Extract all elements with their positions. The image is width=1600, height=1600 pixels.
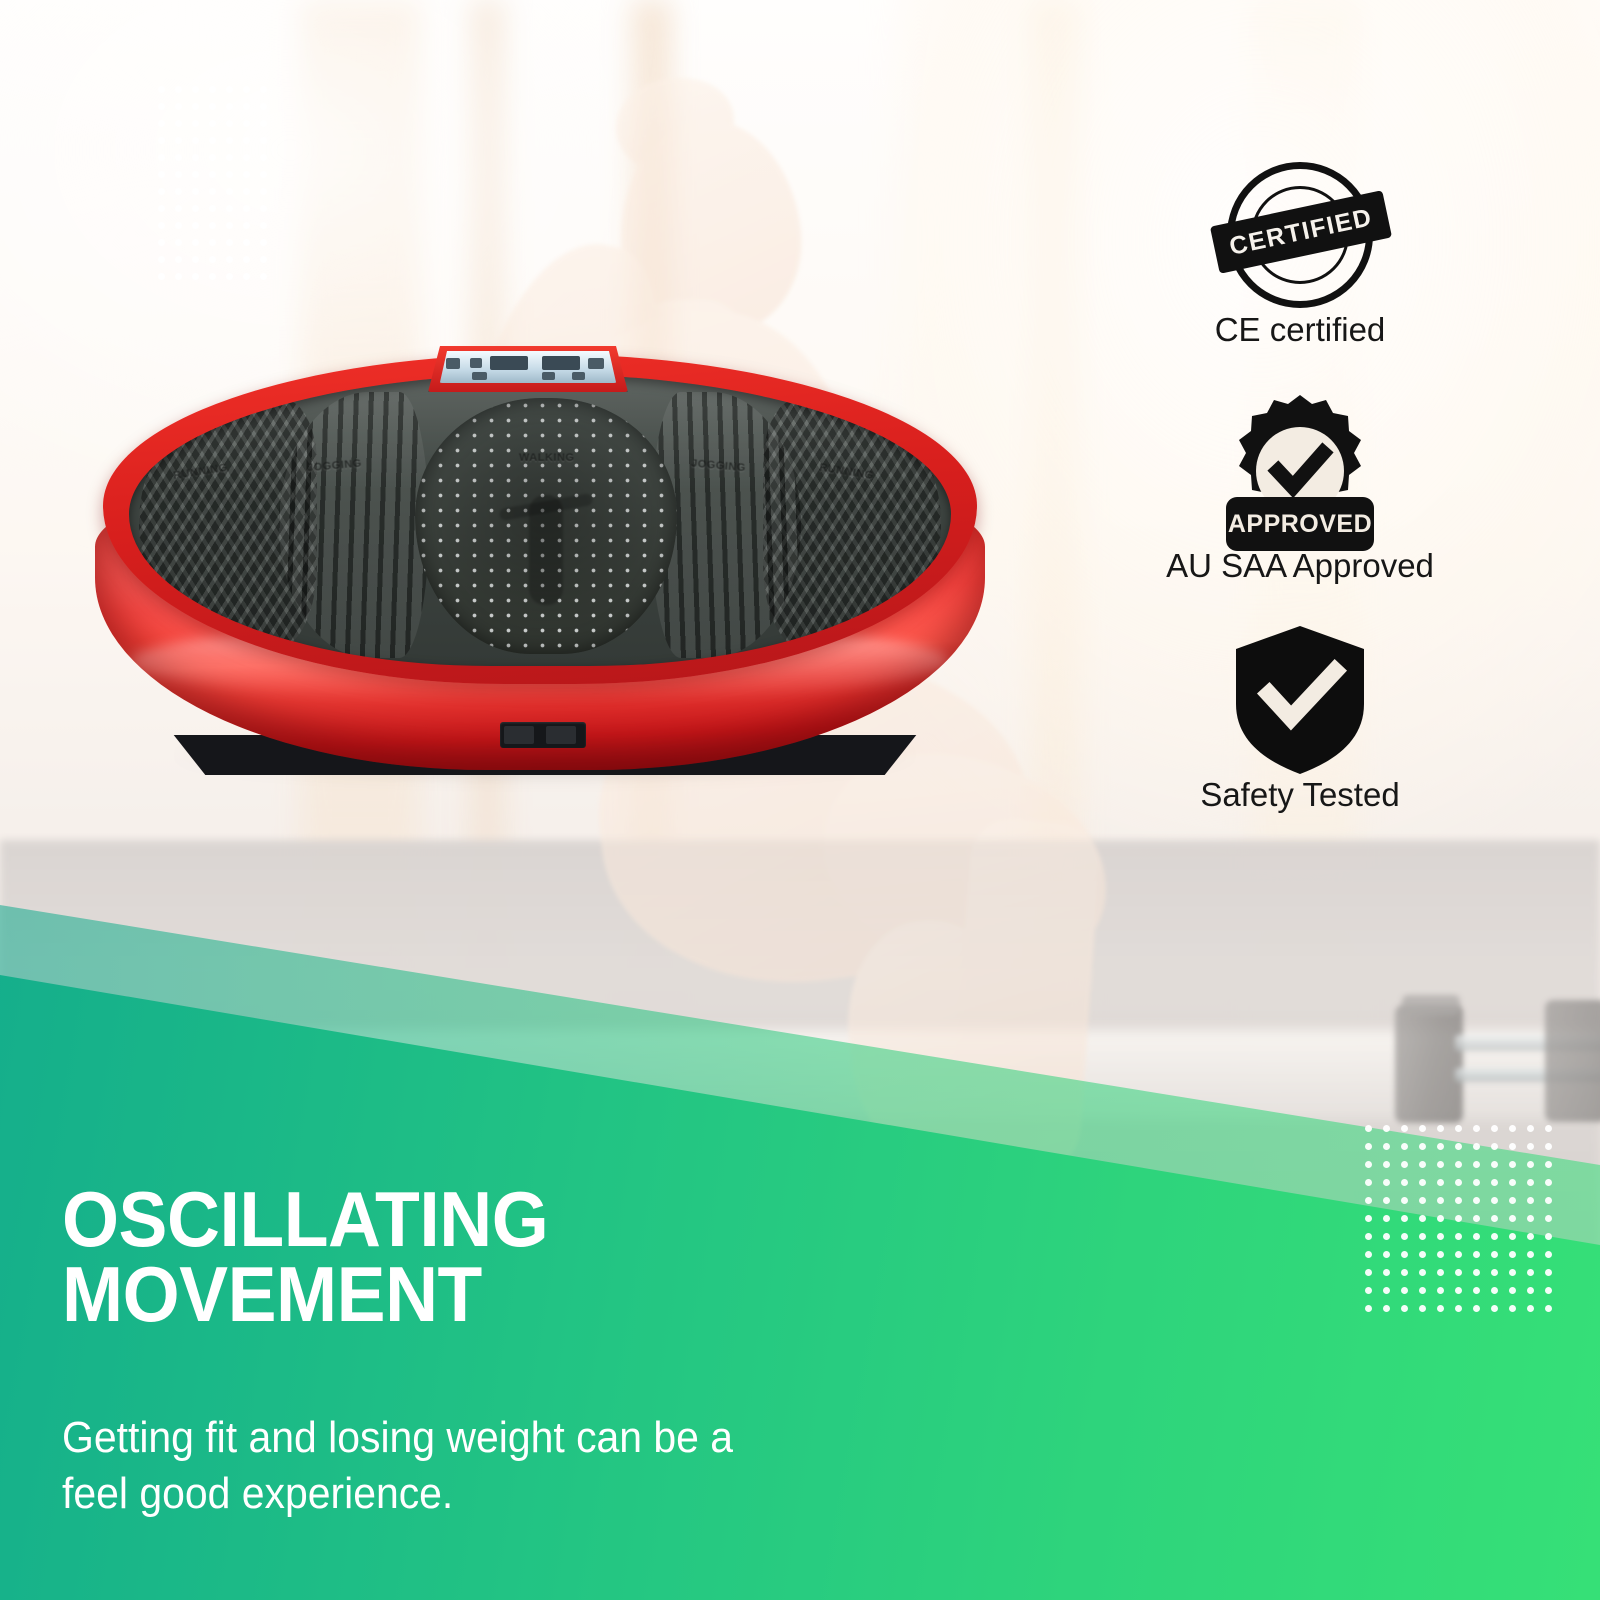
grid-dot — [1473, 1215, 1480, 1222]
badge-safety-tested: Safety Tested — [1090, 615, 1510, 813]
grid-dot — [1365, 1287, 1372, 1294]
grid-dot — [209, 222, 216, 229]
grid-dot — [1419, 1197, 1426, 1204]
grid-dot — [1545, 1197, 1552, 1204]
grid-dot — [1437, 1161, 1444, 1168]
grid-dot — [1491, 1215, 1498, 1222]
grid-dot — [243, 154, 250, 161]
grid-dot — [1383, 1197, 1390, 1204]
grid-dot — [1401, 1233, 1408, 1240]
grid-dot — [260, 154, 267, 161]
badge-label: Safety Tested — [1090, 777, 1510, 813]
grid-dot — [1365, 1269, 1372, 1276]
grid-dot — [1455, 1215, 1462, 1222]
grid-dot — [1455, 1143, 1462, 1150]
grid-dot — [1509, 1287, 1516, 1294]
grid-dot — [175, 171, 182, 178]
grid-dot — [1383, 1269, 1390, 1276]
grid-dot — [175, 273, 182, 280]
grid-dot — [1545, 1233, 1552, 1240]
grid-dot — [1545, 1179, 1552, 1186]
grid-dot — [260, 239, 267, 246]
grid-dot — [1455, 1197, 1462, 1204]
console-display — [542, 356, 580, 370]
grid-dot — [192, 137, 199, 144]
grid-dot — [1401, 1125, 1408, 1132]
grid-dot — [1401, 1143, 1408, 1150]
power-socket[interactable] — [546, 726, 576, 744]
grid-dot — [226, 120, 233, 127]
grid-dot — [158, 120, 165, 127]
grid-dot — [1419, 1143, 1426, 1150]
grid-dot — [1509, 1233, 1516, 1240]
grid-dot — [1473, 1179, 1480, 1186]
acupressure-node-field — [415, 398, 677, 654]
grid-dot — [1545, 1143, 1552, 1150]
grid-dot — [1491, 1143, 1498, 1150]
grid-dot — [260, 188, 267, 195]
grid-dot — [226, 171, 233, 178]
grid-dot — [1365, 1179, 1372, 1186]
vibration-plate-product-image: RUNNING JOGGING WALKING JOGGING RUNNING — [95, 330, 985, 800]
grid-dot — [158, 273, 165, 280]
badge-au-saa-approved: APPROVED AU SAA Approved — [1090, 386, 1510, 584]
grid-dot — [1491, 1125, 1498, 1132]
grid-dot — [1455, 1125, 1462, 1132]
grid-dot — [192, 222, 199, 229]
grid-dot — [243, 239, 250, 246]
grid-dot — [243, 256, 250, 263]
grid-dot — [1527, 1179, 1534, 1186]
console-button[interactable] — [572, 372, 585, 380]
grid-dot — [175, 120, 182, 127]
grid-dot — [1473, 1251, 1480, 1258]
grid-dot — [192, 86, 199, 93]
grid-dot — [1491, 1161, 1498, 1168]
grid-dot — [1401, 1287, 1408, 1294]
grid-dot — [1545, 1125, 1552, 1132]
grid-dot — [1545, 1161, 1552, 1168]
grid-dot — [1509, 1269, 1516, 1276]
grid-dot — [1419, 1287, 1426, 1294]
grid-dot — [1365, 1143, 1372, 1150]
grid-dot — [209, 205, 216, 212]
grid-dot — [226, 103, 233, 110]
grid-dot — [1455, 1179, 1462, 1186]
grid-dot — [175, 103, 182, 110]
console-button[interactable] — [472, 372, 487, 380]
grid-dot — [192, 239, 199, 246]
grid-dot — [175, 137, 182, 144]
grid-dot — [1545, 1251, 1552, 1258]
grid-dot — [175, 188, 182, 195]
grid-dot — [1545, 1305, 1552, 1312]
grid-dot — [1509, 1305, 1516, 1312]
grid-dot — [1509, 1215, 1516, 1222]
grid-dot — [1491, 1197, 1498, 1204]
grid-dot — [1419, 1233, 1426, 1240]
power-switch-port[interactable] — [500, 722, 586, 748]
grid-dot — [1509, 1179, 1516, 1186]
grid-dot — [209, 171, 216, 178]
grid-dot — [1527, 1125, 1534, 1132]
grid-dot — [1365, 1215, 1372, 1222]
grid-dot — [260, 103, 267, 110]
grid-dot — [1527, 1143, 1534, 1150]
grid-dot — [209, 154, 216, 161]
grid-dot — [1383, 1143, 1390, 1150]
grid-dot — [226, 239, 233, 246]
grid-dot — [1473, 1197, 1480, 1204]
grid-dot — [1419, 1125, 1426, 1132]
grid-dot — [1437, 1125, 1444, 1132]
body-outline-glyph — [529, 495, 563, 605]
grid-dot — [1491, 1269, 1498, 1276]
grid-dot — [1545, 1215, 1552, 1222]
grid-dot — [1473, 1143, 1480, 1150]
grid-dot — [226, 273, 233, 280]
grid-dot — [175, 222, 182, 229]
page-subtitle: Getting fit and losing weight can be a f… — [62, 1410, 973, 1523]
grid-dot — [1437, 1215, 1444, 1222]
grid-dot — [1419, 1269, 1426, 1276]
grid-dot — [1419, 1305, 1426, 1312]
grid-dot — [1365, 1251, 1372, 1258]
control-console[interactable] — [428, 346, 628, 392]
console-faceplate — [438, 351, 618, 383]
grid-dot — [1491, 1233, 1498, 1240]
console-button[interactable] — [542, 372, 555, 380]
grid-dot — [243, 103, 250, 110]
grid-dot — [260, 222, 267, 229]
grid-dot — [1509, 1143, 1516, 1150]
grid-dot — [1527, 1287, 1534, 1294]
grid-dot — [1383, 1233, 1390, 1240]
grid-dot — [1527, 1305, 1534, 1312]
grid-dot — [226, 86, 233, 93]
grid-dot — [1401, 1305, 1408, 1312]
grid-dot — [226, 137, 233, 144]
product-deck-surface: RUNNING JOGGING WALKING JOGGING RUNNING — [129, 374, 951, 666]
grid-dot — [1455, 1287, 1462, 1294]
grid-dot — [1527, 1215, 1534, 1222]
console-display — [490, 356, 528, 370]
grid-dot — [1527, 1233, 1534, 1240]
grid-dot — [1401, 1161, 1408, 1168]
grid-dot — [1437, 1143, 1444, 1150]
grid-dot — [1473, 1287, 1480, 1294]
grid-dot — [158, 188, 165, 195]
grid-dot — [1455, 1161, 1462, 1168]
grid-dot — [226, 188, 233, 195]
grid-dot — [175, 86, 182, 93]
grid-dot — [260, 171, 267, 178]
grid-dot — [158, 256, 165, 263]
grid-dot — [1365, 1125, 1372, 1132]
grid-dot — [1527, 1197, 1534, 1204]
grid-dot — [260, 86, 267, 93]
grid-dot — [209, 273, 216, 280]
grid-dot — [1419, 1251, 1426, 1258]
grid-dot — [1383, 1305, 1390, 1312]
grid-dot — [209, 103, 216, 110]
grid-dot — [1545, 1287, 1552, 1294]
grid-dot — [1437, 1179, 1444, 1186]
grid-dot — [243, 171, 250, 178]
grid-dot — [1437, 1197, 1444, 1204]
grid-dot — [1509, 1125, 1516, 1132]
grid-dot — [1401, 1179, 1408, 1186]
grid-dot — [260, 137, 267, 144]
grid-dot — [175, 154, 182, 161]
grid-dot — [1527, 1269, 1534, 1276]
subtext-line-1: Getting fit and losing weight can be a — [62, 1413, 733, 1462]
grid-dot — [1455, 1269, 1462, 1276]
grid-dot — [1401, 1197, 1408, 1204]
grid-dot — [192, 205, 199, 212]
grid-dot — [158, 239, 165, 246]
shield-check-icon — [1090, 615, 1510, 785]
grid-dot — [192, 256, 199, 263]
product-marketing-poster: RUNNING JOGGING WALKING JOGGING RUNNING — [0, 0, 1600, 1600]
grid-dot — [209, 120, 216, 127]
grid-dot — [1419, 1179, 1426, 1186]
power-switch[interactable] — [504, 726, 534, 744]
grid-dot — [1509, 1197, 1516, 1204]
subtext-line-2: feel good experience. — [62, 1466, 973, 1522]
grid-dot — [192, 188, 199, 195]
badge-label: CE certified — [1090, 312, 1510, 348]
approved-rosette-icon: APPROVED — [1090, 386, 1510, 556]
grid-dot — [1509, 1161, 1516, 1168]
grid-dot — [158, 154, 165, 161]
grid-dot — [1437, 1233, 1444, 1240]
grid-dot — [1491, 1287, 1498, 1294]
grid-dot — [1401, 1251, 1408, 1258]
grid-dot — [209, 188, 216, 195]
grid-dot — [158, 205, 165, 212]
deck-label: WALKING — [519, 452, 574, 464]
grid-dot — [158, 171, 165, 178]
grid-dot — [1473, 1233, 1480, 1240]
grid-dot — [1365, 1305, 1372, 1312]
grid-dot — [1419, 1215, 1426, 1222]
grid-dot — [1383, 1179, 1390, 1186]
grid-dot — [1455, 1251, 1462, 1258]
grid-dot — [226, 205, 233, 212]
grid-dot — [243, 273, 250, 280]
grid-dot — [1365, 1233, 1372, 1240]
page-title: OSCILLATING MOVEMENT — [62, 1182, 1002, 1332]
grid-dot — [1545, 1269, 1552, 1276]
grid-dot — [1383, 1161, 1390, 1168]
grid-dot — [260, 273, 267, 280]
approved-text: APPROVED — [1228, 510, 1372, 539]
grid-dot — [1473, 1305, 1480, 1312]
grid-dot — [1527, 1251, 1534, 1258]
grid-dot — [1455, 1233, 1462, 1240]
grid-dot — [209, 137, 216, 144]
console-button[interactable] — [470, 358, 482, 368]
grid-dot — [158, 137, 165, 144]
grid-dot — [243, 137, 250, 144]
grid-dot — [1383, 1215, 1390, 1222]
grid-dot — [1383, 1287, 1390, 1294]
badge-ce-certified: CERTIFIED CE certified — [1090, 150, 1510, 348]
grid-dot — [1383, 1125, 1390, 1132]
console-button[interactable] — [588, 358, 604, 369]
grid-dot — [1491, 1305, 1498, 1312]
grid-dot — [1491, 1179, 1498, 1186]
grid-dot — [226, 256, 233, 263]
grid-dot — [1473, 1269, 1480, 1276]
grid-dot — [1365, 1197, 1372, 1204]
console-button[interactable] — [446, 358, 460, 369]
approved-banner: APPROVED — [1226, 497, 1374, 551]
grid-dot — [1383, 1251, 1390, 1258]
grid-dot — [260, 120, 267, 127]
grid-dot — [226, 222, 233, 229]
grid-dot — [1527, 1161, 1534, 1168]
certification-badge-list: CERTIFIED CE certified APPROVED — [1090, 150, 1510, 821]
certified-stamp-icon: CERTIFIED — [1090, 150, 1510, 320]
shield-check-svg — [1225, 620, 1375, 780]
grid-dot — [192, 171, 199, 178]
grid-dot — [243, 120, 250, 127]
badge-label: AU SAA Approved — [1090, 548, 1510, 584]
grid-dot — [192, 273, 199, 280]
headline-line-2: MOVEMENT — [62, 1257, 1002, 1332]
grid-dot — [243, 222, 250, 229]
grid-dot — [243, 205, 250, 212]
grid-dot — [1401, 1215, 1408, 1222]
grid-dot — [1473, 1125, 1480, 1132]
grid-dot — [226, 154, 233, 161]
grid-dot — [209, 86, 216, 93]
grid-dot — [243, 86, 250, 93]
grid-dot — [192, 154, 199, 161]
grid-dot — [209, 256, 216, 263]
grid-dot — [175, 205, 182, 212]
grid-dot — [175, 239, 182, 246]
grid-dot — [1491, 1251, 1498, 1258]
grid-dot — [175, 256, 182, 263]
grid-dot — [1473, 1161, 1480, 1168]
grid-dot — [260, 205, 267, 212]
grid-dot — [192, 120, 199, 127]
grid-dot — [1455, 1305, 1462, 1312]
grid-dot — [209, 239, 216, 246]
grid-dot — [1365, 1161, 1372, 1168]
grid-dot — [1401, 1269, 1408, 1276]
grid-dot — [1437, 1287, 1444, 1294]
grid-dot — [1419, 1161, 1426, 1168]
grid-dot — [158, 86, 165, 93]
grid-dot — [1437, 1269, 1444, 1276]
grid-dot — [260, 256, 267, 263]
grid-dot — [1437, 1251, 1444, 1258]
grid-dot — [243, 188, 250, 195]
grid-dot — [1437, 1305, 1444, 1312]
grid-dot — [158, 222, 165, 229]
grid-dot — [1509, 1251, 1516, 1258]
grid-dot — [192, 103, 199, 110]
grid-dot — [158, 103, 165, 110]
